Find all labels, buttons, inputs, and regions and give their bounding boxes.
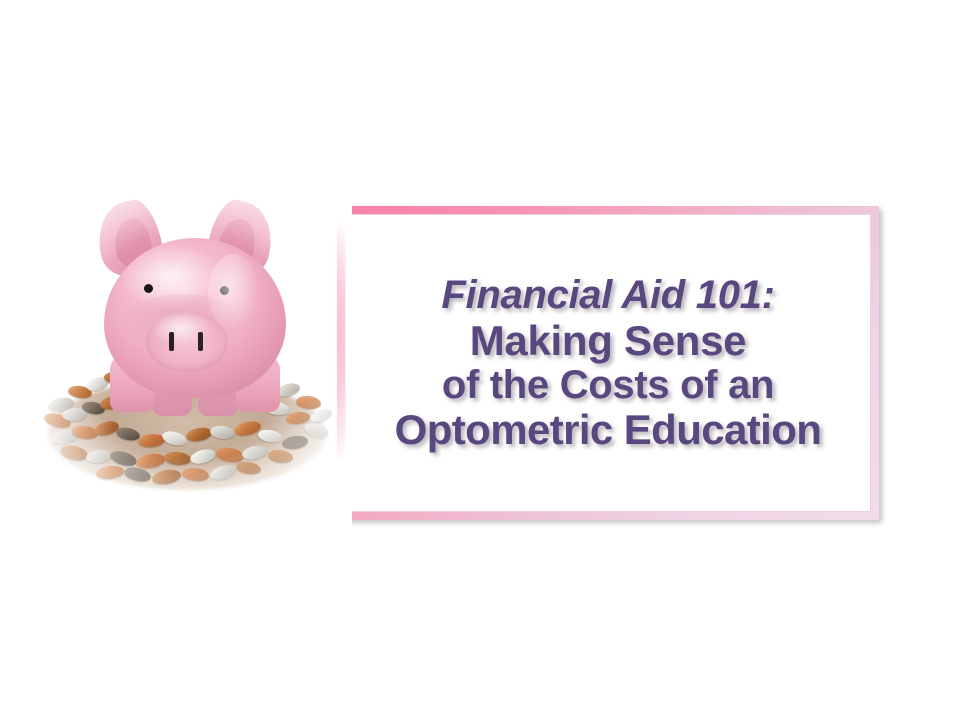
title-line-3: of the Costs of an: [352, 364, 864, 407]
title-line-1: Financial Aid 101:: [352, 274, 864, 317]
title-frame-inner: Financial Aid 101: Making Sense of the C…: [345, 214, 871, 512]
title-line-4: Optometric Education: [352, 407, 864, 452]
piggy-bank-image: [38, 196, 338, 516]
presentation-slide: Financial Aid 101: Making Sense of the C…: [0, 0, 960, 720]
slide-title: Financial Aid 101: Making Sense of the C…: [346, 274, 870, 452]
title-frame: Financial Aid 101: Making Sense of the C…: [337, 206, 879, 520]
title-line-2: Making Sense: [352, 318, 864, 363]
pig-eye-left: [144, 284, 153, 293]
pig-nostril: [169, 332, 174, 351]
piggy-bank: [90, 202, 298, 434]
pig-nostril: [198, 332, 203, 351]
pig-highlight: [208, 254, 260, 332]
